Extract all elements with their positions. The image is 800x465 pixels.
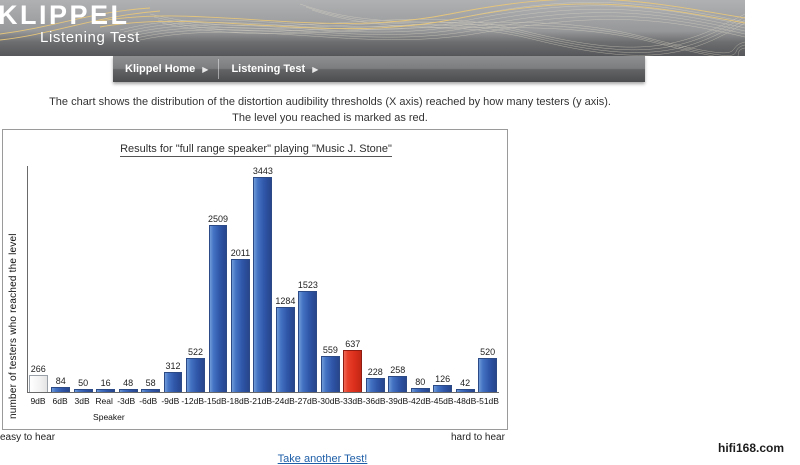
x-tick-label: -45dB	[431, 395, 454, 409]
x-tick-label: 6dB	[49, 395, 71, 409]
bar	[298, 291, 317, 393]
bar-value-label: 16	[101, 378, 111, 388]
x-tick-label: -18dB	[227, 395, 250, 409]
nav-item-listening-test[interactable]: Listening Test ▶	[219, 56, 328, 82]
x-tick-label-line2	[49, 412, 71, 422]
x-tick-label: Real	[93, 395, 115, 409]
bar-value-label: 3443	[253, 166, 273, 176]
x-tick-label-line2	[235, 412, 257, 422]
intro-line-2: The level you reached is marked as red.	[0, 110, 660, 126]
bar	[276, 307, 295, 393]
chart-title: Results for "full range speaker" playing…	[3, 143, 509, 155]
bars-container: 2668450164858312522250920113443128415235…	[27, 166, 499, 393]
chevron-right-icon: ▶	[202, 65, 208, 74]
x-tick-label: 3dB	[71, 395, 93, 409]
bar-column: 42	[454, 166, 476, 393]
bar	[164, 372, 183, 393]
x-tick-label-line2	[27, 412, 49, 422]
nav-item-label: Klippel Home	[125, 63, 195, 75]
bar-value-label: 84	[56, 376, 66, 386]
bar	[209, 225, 228, 393]
brand-title: KLIPPEL	[0, 0, 140, 30]
bar	[343, 350, 362, 393]
x-tick-label-line2	[411, 412, 433, 422]
bar-column: 522	[184, 166, 206, 393]
x-tick-label: -12dB	[181, 395, 204, 409]
x-tick-label: -48dB	[454, 395, 477, 409]
bar-column: 228	[364, 166, 386, 393]
x-tick-label: -30dB	[317, 395, 340, 409]
x-tick-label: -21dB	[249, 395, 272, 409]
bar-value-label: 559	[323, 345, 338, 355]
bar-column: 258	[387, 166, 409, 393]
bar-value-label: 80	[415, 377, 425, 387]
x-tick-label: -36dB	[363, 395, 386, 409]
bar-value-label: 520	[480, 347, 495, 357]
bar	[29, 375, 48, 393]
x-tick-label: -6dB	[137, 395, 159, 409]
bar-column: 80	[409, 166, 431, 393]
site-watermark: hifi168.com	[718, 441, 784, 455]
bar-value-label: 1523	[298, 280, 318, 290]
bar-column: 559	[319, 166, 341, 393]
bar-value-label: 522	[188, 347, 203, 357]
brand-block: KLIPPEL Listening Test	[0, 0, 140, 46]
bar-value-label: 637	[345, 339, 360, 349]
bar-column: 312	[162, 166, 184, 393]
bar-column: 16	[94, 166, 116, 393]
x-tick-label: -33dB	[340, 395, 363, 409]
intro-text: The chart shows the distribution of the …	[0, 94, 660, 126]
bar-value-label: 2509	[208, 214, 228, 224]
bar-value-label: 126	[435, 374, 450, 384]
y-axis-label: number of testers who reached the level	[8, 226, 22, 426]
x-tick-label: -42dB	[408, 395, 431, 409]
x-tick-label: -24dB	[272, 395, 295, 409]
x-tick-label-line2: Speaker	[93, 412, 125, 422]
x-tick-label-line2	[147, 412, 169, 422]
brand-subtitle: Listening Test	[0, 29, 140, 46]
bar-column: 2509	[207, 166, 229, 393]
bar-column: 84	[49, 166, 71, 393]
x-tick-label: -15dB	[204, 395, 227, 409]
x-axis-tick-labels: 9dB6dB3dBReal-3dB-6dB-9dB-12dB-15dB-18dB…	[27, 395, 499, 409]
x-tick-label-line2	[367, 412, 389, 422]
x-tick-label-line2	[477, 412, 499, 422]
bar-column: 50	[72, 166, 94, 393]
x-tick-label-line2	[125, 412, 147, 422]
bar-column: 48	[117, 166, 139, 393]
bar-column: 266	[27, 166, 49, 393]
bar	[478, 358, 497, 393]
bar	[321, 356, 340, 393]
x-tick-label: -9dB	[159, 395, 181, 409]
bar-value-label: 266	[31, 364, 46, 374]
x-tick-label-line2	[433, 412, 455, 422]
bar-value-label: 1284	[275, 296, 295, 306]
y-axis-line	[27, 166, 28, 393]
bar-value-label: 228	[368, 367, 383, 377]
bar-value-label: 48	[123, 378, 133, 388]
bar-value-label: 42	[460, 378, 470, 388]
x-axis-tick-labels-secondline: Speaker	[27, 412, 499, 422]
x-tick-label: 9dB	[27, 395, 49, 409]
bar-column: 58	[139, 166, 161, 393]
x-tick-label-line2	[345, 412, 367, 422]
x-tick-label-line2	[169, 412, 191, 422]
bar	[186, 358, 205, 393]
bar-value-label: 50	[78, 378, 88, 388]
x-tick-label: -39dB	[386, 395, 409, 409]
bar-column: 3443	[252, 166, 274, 393]
bar-value-label: 2011	[231, 248, 250, 258]
bar-value-label: 58	[146, 378, 156, 388]
bar-column: 1284	[274, 166, 296, 393]
intro-line-1: The chart shows the distribution of the …	[0, 94, 660, 110]
bar-column: 520	[476, 166, 498, 393]
bar	[253, 177, 272, 393]
x-tick-label: -51dB	[476, 395, 499, 409]
bar	[231, 259, 250, 393]
axis-annotation-left: easy to hear	[0, 432, 55, 443]
main-navigation: Klippel Home ▶ Listening Test ▶	[113, 56, 645, 82]
axis-annotation-right: hard to hear	[451, 432, 505, 443]
bar-value-label: 312	[166, 361, 181, 371]
nav-item-klippel-home[interactable]: Klippel Home ▶	[113, 56, 218, 82]
bar	[366, 378, 385, 393]
bar-column: 2011	[229, 166, 251, 393]
nav-item-label: Listening Test	[231, 63, 305, 75]
x-tick-label-line2	[213, 412, 235, 422]
bar	[388, 376, 407, 393]
site-header: KLIPPEL Listening Test	[0, 0, 745, 56]
bar-value-label: 258	[390, 365, 405, 375]
x-tick-label-line2	[389, 412, 411, 422]
x-tick-label-line2	[455, 412, 477, 422]
bar-column: 126	[431, 166, 453, 393]
x-tick-label-line2	[323, 412, 345, 422]
x-tick-label-line2	[71, 412, 93, 422]
chart-panel: Results for "full range speaker" playing…	[2, 129, 508, 430]
x-tick-label-line2	[191, 412, 213, 422]
x-tick-label: -27dB	[295, 395, 318, 409]
x-axis-line	[27, 392, 499, 393]
take-another-test-link[interactable]: Take another Test!	[0, 453, 645, 465]
bar-column: 637	[342, 166, 364, 393]
plot-area: 2668450164858312522250920113443128415235…	[27, 166, 499, 393]
x-tick-label-line2	[301, 412, 323, 422]
x-tick-label-line2	[257, 412, 279, 422]
chevron-right-icon: ▶	[312, 65, 318, 74]
x-tick-label: -3dB	[115, 395, 137, 409]
x-tick-label-line2	[279, 412, 301, 422]
bar-column: 1523	[297, 166, 319, 393]
